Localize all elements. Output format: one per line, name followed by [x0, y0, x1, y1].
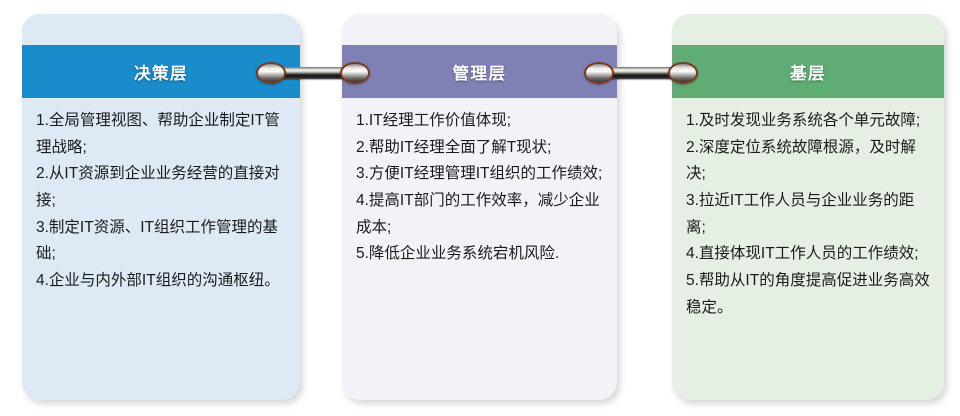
card-decision-list: 1.全局管理视图、帮助企业制定IT管理战略; 2.从IT资源到企业业务经营的直接… [36, 108, 286, 295]
list-item: 1.及时发现业务系统各个单元故障; [686, 108, 930, 135]
list-item: 5.降低企业业务系统宕机风险. [356, 241, 603, 268]
list-item: 4.企业与内外部IT组织的沟通枢纽。 [36, 268, 286, 295]
card-management-list: 1.IT经理工作价值体现; 2.帮助IT经理全面了解T现状; 3.方便IT经理管… [356, 108, 603, 268]
list-item: 2.深度定位系统故障根源，及时解决; [686, 135, 930, 188]
card-decision-body: 1.全局管理视图、帮助企业制定IT管理战略; 2.从IT资源到企业业务经营的直接… [22, 98, 300, 400]
card-operations-top-strip [672, 14, 944, 45]
connector-knob-left-icon [584, 62, 614, 84]
list-item: 3.方便IT经理管理IT组织的工作绩效; [356, 161, 603, 188]
list-item: 1.IT经理工作价值体现; [356, 108, 603, 135]
diagram-canvas: 决策层 1.全局管理视图、帮助企业制定IT管理战略; 2.从IT资源到企业业务经… [0, 0, 960, 416]
connector-knob-right-icon [340, 62, 370, 84]
card-management-title: 管理层 [453, 60, 507, 84]
connector-knob-right-icon [668, 62, 698, 84]
list-item: 2.帮助IT经理全面了解T现状; [356, 135, 603, 162]
card-operations-body: 1.及时发现业务系统各个单元故障; 2.深度定位系统故障根源，及时解决; 3.拉… [672, 98, 944, 400]
connector-management-to-operations [584, 62, 698, 84]
list-item: 5.帮助从IT的角度提高促进业务高效稳定。 [686, 268, 930, 321]
card-operations-list: 1.及时发现业务系统各个单元故障; 2.深度定位系统故障根源，及时解决; 3.拉… [686, 108, 930, 321]
card-management-header-band: 管理层 [342, 45, 617, 98]
card-decision-top-strip [22, 14, 300, 45]
card-operations-title: 基层 [790, 60, 826, 84]
card-operations-header-band: 基层 [672, 45, 944, 98]
card-management-layer[interactable]: 管理层 1.IT经理工作价值体现; 2.帮助IT经理全面了解T现状; 3.方便I… [342, 14, 617, 400]
list-item: 1.全局管理视图、帮助企业制定IT管理战略; [36, 108, 286, 161]
list-item: 2.从IT资源到企业业务经营的直接对接; [36, 161, 286, 214]
card-management-body: 1.IT经理工作价值体现; 2.帮助IT经理全面了解T现状; 3.方便IT经理管… [342, 98, 617, 400]
card-operations-layer[interactable]: 基层 1.及时发现业务系统各个单元故障; 2.深度定位系统故障根源，及时解决; … [672, 14, 944, 400]
card-decision-title: 决策层 [134, 60, 188, 84]
list-item: 4.直接体现IT工作人员的工作绩效; [686, 241, 930, 268]
card-management-top-strip [342, 14, 617, 45]
list-item: 4.提高IT部门的工作效率，减少企业成本; [356, 188, 603, 241]
connector-knob-left-icon [256, 62, 286, 84]
list-item: 3.拉近IT工作人员与企业业务的距离; [686, 188, 930, 241]
list-item: 3.制定IT资源、IT组织工作管理的基础; [36, 215, 286, 268]
connector-decision-to-management [256, 62, 370, 84]
